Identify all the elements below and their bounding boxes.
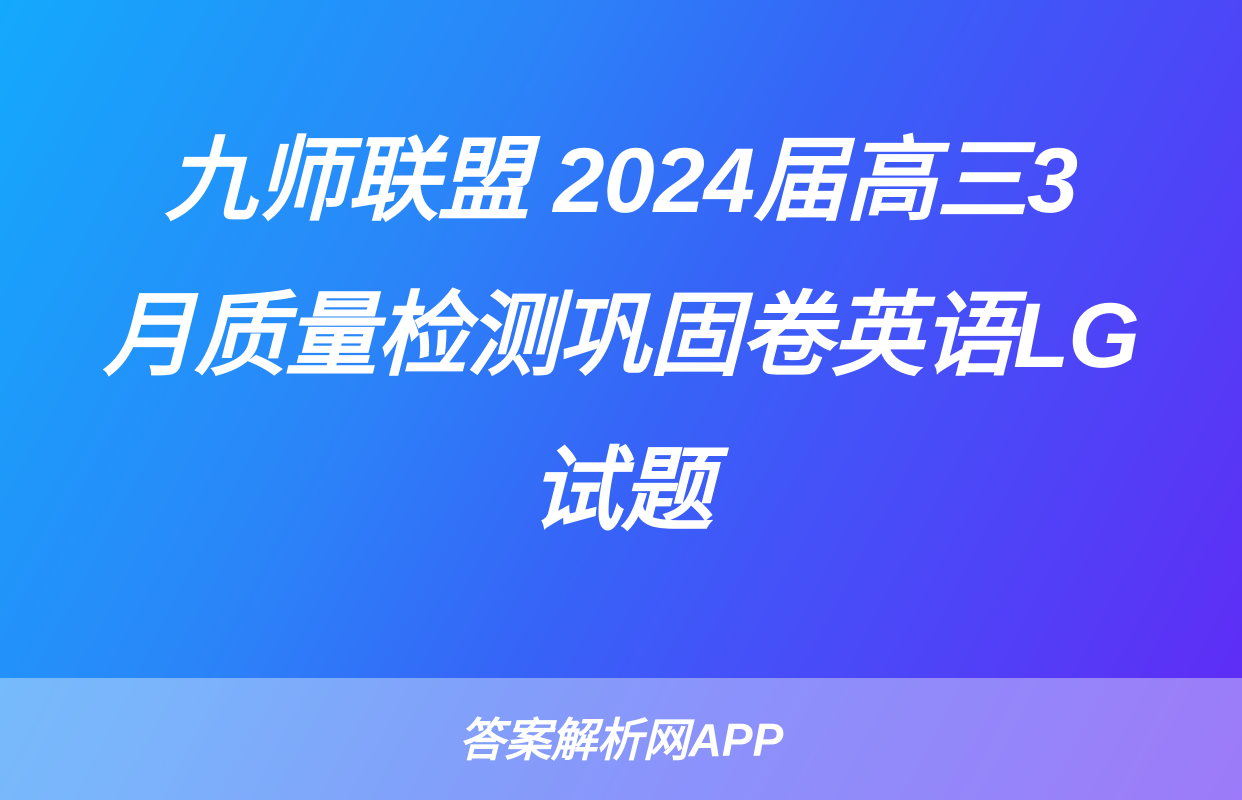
poster-title-block: 九师联盟 2024届高三3 月质量检测巩固卷英语LG 试题 <box>0 0 1242 678</box>
title-line-1: 九师联盟 2024届高三3 <box>60 104 1182 259</box>
footer-watermark-band: 答案解析网APP <box>0 678 1242 800</box>
title-line-2: 月质量检测巩固卷英语LG <box>60 259 1182 414</box>
app-watermark-label: 答案解析网APP <box>459 715 784 765</box>
title-line-3: 试题 <box>60 414 1182 569</box>
poster-canvas: 九师联盟 2024届高三3 月质量检测巩固卷英语LG 试题 答案解析网APP <box>0 0 1242 800</box>
